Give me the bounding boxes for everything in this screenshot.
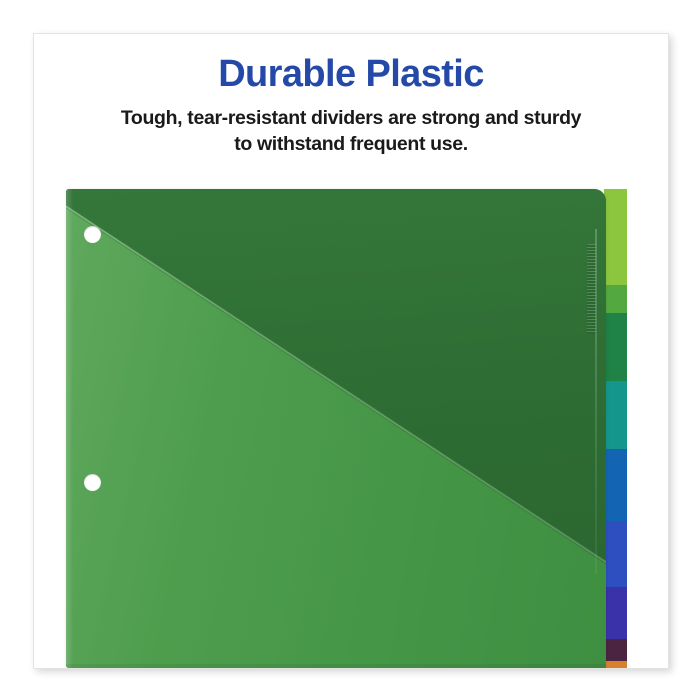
plastic-divider-body	[66, 189, 606, 668]
divider-tab-strip	[604, 189, 627, 668]
binder-hole-top	[84, 226, 101, 243]
page-title: Durable Plastic	[34, 34, 668, 97]
binder-hole-bottom	[84, 474, 101, 491]
tab-dark-green	[604, 313, 627, 381]
tab-orange	[604, 661, 627, 668]
tab-purple	[604, 639, 627, 661]
tab-green	[604, 285, 627, 313]
product-image-canvas: Durable Plastic Tough, tear-resistant di…	[0, 0, 700, 700]
tab-teal	[604, 381, 627, 449]
subtitle-line-1: Tough, tear-resistant dividers are stron…	[34, 105, 668, 131]
tab-indigo	[604, 587, 627, 639]
product-photo	[34, 154, 668, 668]
marketing-text-block: Durable Plastic Tough, tear-resistant di…	[34, 34, 668, 157]
tab-light-green	[604, 189, 627, 285]
subtitle: Tough, tear-resistant dividers are stron…	[34, 97, 668, 157]
tab-blue	[604, 449, 627, 521]
tab-royal-blue	[604, 521, 627, 587]
product-card: Durable Plastic Tough, tear-resistant di…	[33, 33, 669, 669]
